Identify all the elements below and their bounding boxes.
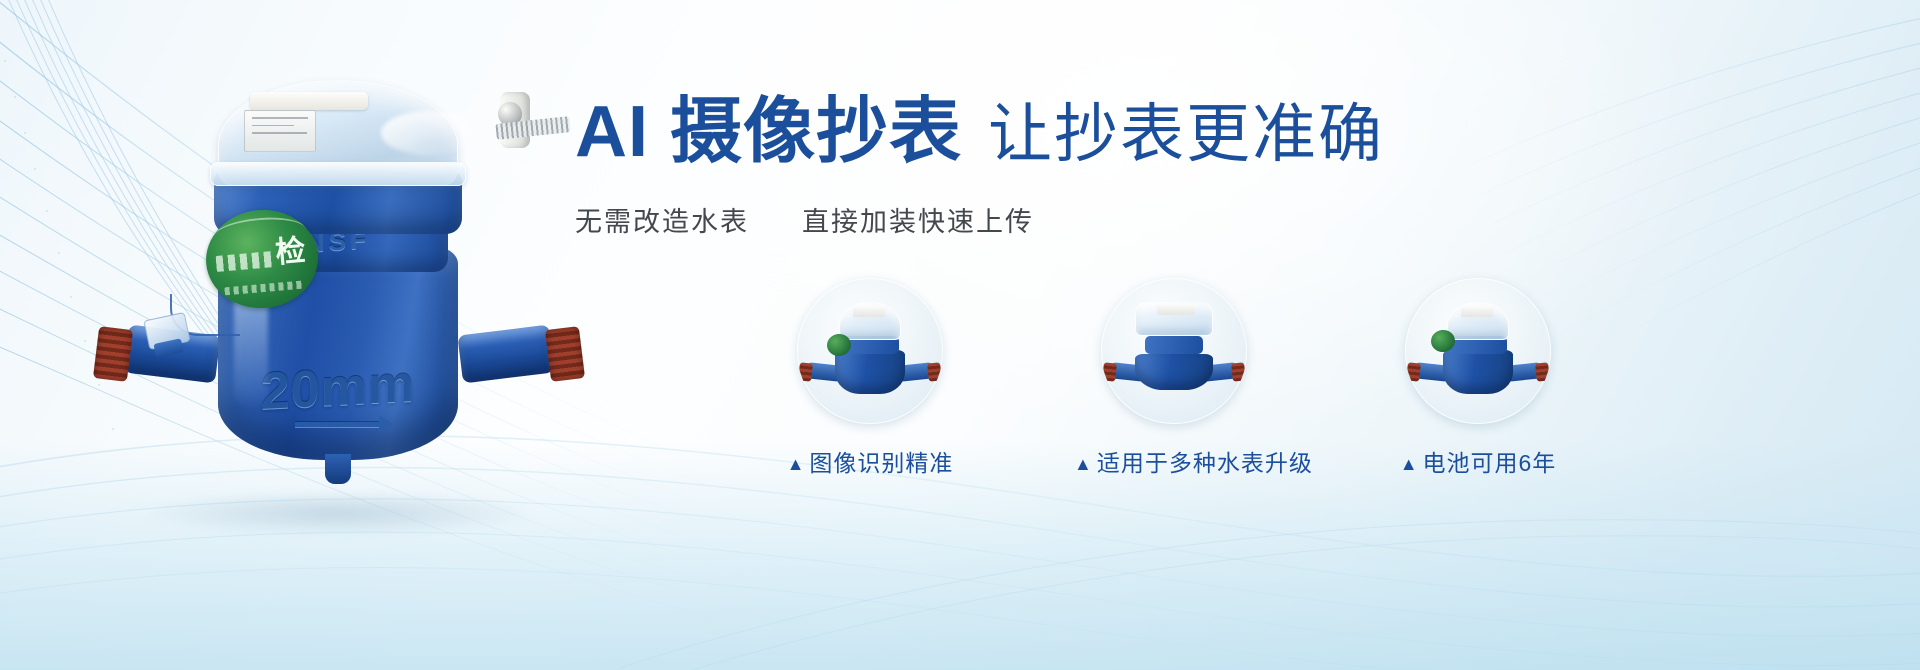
feature-item: ▲图像识别精准 — [770, 278, 970, 478]
feature-item: ▲适用于多种水表升级 — [1074, 278, 1274, 478]
triangle-bullet-icon: ▲ — [787, 454, 806, 474]
thread-coupling-right — [545, 326, 585, 382]
feature-list: ▲图像识别精准 ▲适用于多种水表升级 — [770, 278, 1578, 478]
promo-banner: 20mm NSF 检 AI 摄像抄表 让抄表 — [0, 0, 1920, 670]
headline-secondary: 让抄表更准确 — [988, 102, 1384, 168]
water-meter-mini-illustration — [797, 278, 943, 424]
triangle-bullet-icon: ▲ — [1400, 454, 1419, 474]
headline-primary: AI 摄像抄表 — [575, 96, 962, 168]
triangle-bullet-icon: ▲ — [1074, 454, 1093, 474]
thread-coupling-left — [93, 326, 133, 382]
feature-item: ▲电池可用6年 — [1378, 278, 1578, 478]
feature-caption-text: 电池可用6年 — [1423, 450, 1557, 476]
feature-thumbnail — [1405, 278, 1551, 424]
subheadline: 无需改造水表 直接加装快速上传 — [575, 200, 1875, 239]
size-emboss: 20mm — [218, 352, 458, 425]
feature-caption-text: 图像识别精准 — [809, 450, 953, 476]
dome-highlight — [381, 111, 477, 155]
feature-caption-text: 适用于多种水表升级 — [1097, 450, 1313, 476]
meter-drain-plug — [325, 454, 351, 484]
water-meter-mini-illustration — [1405, 278, 1551, 424]
product-shadow — [138, 490, 538, 536]
subheadline-left: 无需改造水表 — [575, 207, 749, 237]
headline: AI 摄像抄表 让抄表更准确 — [575, 96, 1875, 168]
water-meter-mini-illustration — [1101, 278, 1247, 424]
feature-caption: ▲适用于多种水表升级 — [1074, 444, 1274, 478]
feature-caption: ▲电池可用6年 — [1378, 444, 1578, 478]
flow-direction-arrow — [295, 422, 381, 427]
feature-thumbnail — [1101, 278, 1247, 424]
register-top-bar — [250, 92, 368, 110]
seal-glyph: 检 — [274, 236, 307, 269]
feature-thumbnail — [797, 278, 943, 424]
register-label-card — [244, 110, 316, 152]
subheadline-right: 直接加装快速上传 — [802, 207, 1034, 237]
headline-block: AI 摄像抄表 让抄表更准确 无需改造水表 直接加装快速上传 — [575, 96, 1875, 239]
product-image-water-meter: 20mm NSF 检 — [78, 58, 588, 528]
feature-caption: ▲图像识别精准 — [770, 444, 970, 478]
dome-rim — [210, 162, 466, 186]
